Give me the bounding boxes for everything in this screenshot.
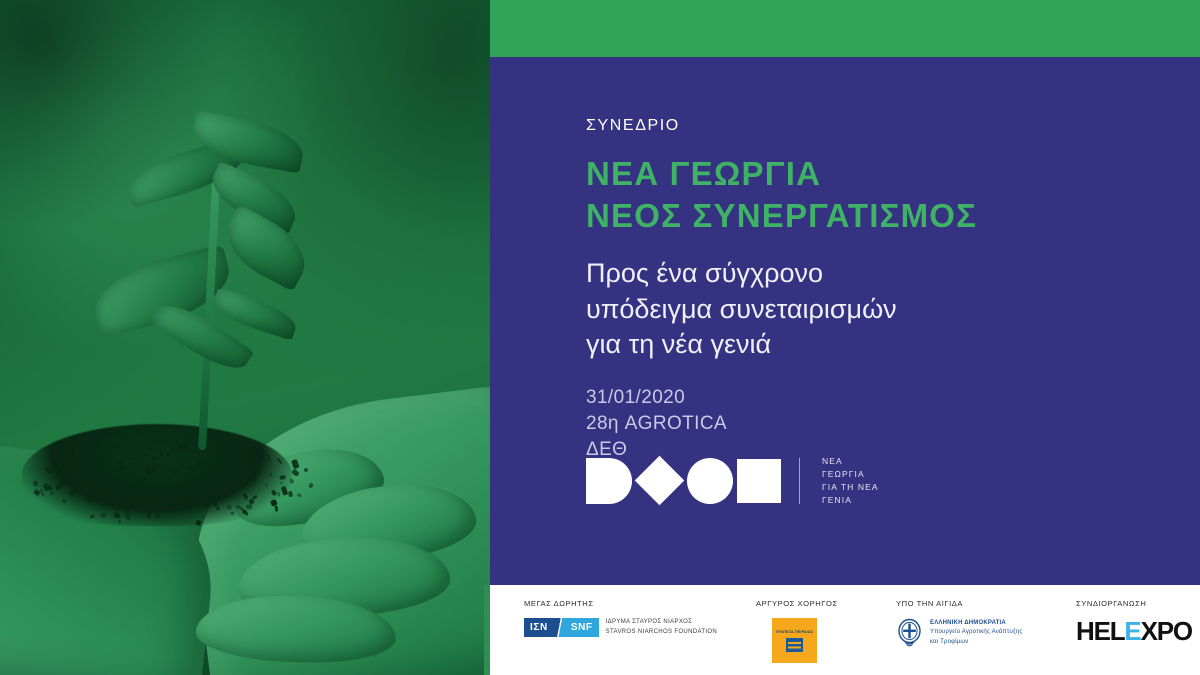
headline-line-2: ΝΕΟΣ ΣΥΝΕΡΓΑΤΙΣΜΟΣ	[586, 195, 1166, 237]
logo-text-line-4: ΓΕΝΙΑ	[822, 494, 879, 507]
brand-logo: ΝΕΑ ΓΕΩΡΓΙΑ ΓΙΑ ΤΗ ΝΕΑ ΓΕΝΙΑ	[586, 455, 879, 507]
piraeus-bank-wordmark: ΤΡΑΠΕΖΑ ΠΕΙΡΑΙΩΣ	[776, 630, 814, 634]
logo-shapes	[586, 457, 781, 505]
sponsor-label-auspices: ΥΠΟ ΤΗΝ ΑΙΓΙΔΑ	[896, 599, 1076, 608]
snf-name-greek: ΙΔΡΥΜΑ ΣΤΑΥΡΟΣ ΝΙΑΡΧΟΣ	[606, 618, 717, 627]
content-block: ΣΥΝΕΔΡΙΟ ΝΕΑ ΓΕΩΡΓΙΑ ΝΕΟΣ ΣΥΝΕΡΓΑΤΙΣΜΟΣ …	[586, 117, 1166, 464]
seedling-photo	[0, 0, 490, 675]
half-round-d-shape-icon	[586, 458, 632, 504]
piraeus-bank-emblem-icon	[786, 638, 803, 652]
sponsor-bar: ΜΕΓΑΣ ΔΩΡΗΤΗΣ ΙΣΝ SNF ΙΔΡΥΜΑ ΣΤΑΥΡΟΣ ΝΙΑ…	[490, 585, 1200, 675]
photo-green-duotone-overlay	[0, 0, 490, 675]
snf-slash-icon	[554, 618, 565, 637]
square-shape-icon	[737, 459, 781, 503]
helexpo-part-2: E	[1124, 616, 1140, 646]
eyebrow-label: ΣΥΝΕΔΡΙΟ	[586, 117, 1166, 135]
helexpo-part-1: HEL	[1076, 616, 1124, 646]
stavros-niarchos-foundation-logo[interactable]: ΙΣΝ SNF ΙΔΡΥΜΑ ΣΤΑΥΡΟΣ ΝΙΑΡΧΟΣ STAVROS N…	[524, 618, 756, 637]
helexpo-logo[interactable]: HELEXPO	[1076, 618, 1200, 644]
helexpo-part-3: XPO	[1141, 616, 1192, 646]
diamond-shape-icon	[635, 456, 684, 505]
sponsor-slot-auspices: ΥΠΟ ΤΗΝ ΑΙΓΙΔΑ ΕΛΛΗΝΙΚΗ ΔΗΜΟΚΡΑΤΙΑ Υπουρ…	[896, 599, 1076, 675]
sponsor-slot-co-organizer: ΣΥΝΔΙΟΡΓΑΝΩΣΗ HELEXPO	[1076, 599, 1200, 675]
sponsor-label-co-organizer: ΣΥΝΔΙΟΡΓΑΝΩΣΗ	[1076, 599, 1200, 608]
snf-mark-right: SNF	[565, 618, 599, 637]
hellenic-republic-emblem-icon	[896, 618, 923, 648]
sponsor-slot-silver-sponsor: ΑΡΓΥΡΟΣ ΧΟΡΗΓΟΣ ΤΡΑΠΕΖΑ ΠΕΙΡΑΙΩΣ	[756, 599, 896, 675]
piraeus-bank-logo[interactable]: ΤΡΑΠΕΖΑ ΠΕΙΡΑΙΩΣ	[772, 618, 817, 663]
sponsor-label-major-donor: ΜΕΓΑΣ ΔΩΡΗΤΗΣ	[524, 599, 756, 608]
sponsor-slot-major-donor: ΜΕΓΑΣ ΔΩΡΗΤΗΣ ΙΣΝ SNF ΙΔΡΥΜΑ ΣΤΑΥΡΟΣ ΝΙΑ…	[524, 599, 756, 675]
event-name: 28η AGROTICA	[586, 411, 1166, 437]
logo-divider	[799, 458, 800, 504]
hellenic-republic-logo[interactable]: ΕΛΛΗΝΙΚΗ ΔΗΜΟΚΡΑΤΙΑ Υπουργείο Αγροτικής …	[896, 618, 1076, 648]
snf-name-text: ΙΔΡΥΜΑ ΣΤΑΥΡΟΣ ΝΙΑΡΧΟΣ STAVROS NIARCHOS …	[606, 618, 717, 637]
subtitle-line-2: υπόδειγμα συνεταιρισμών	[586, 292, 1166, 328]
logo-text-line-2: ΓΕΩΡΓΙΑ	[822, 468, 879, 481]
banner-stage: ΣΥΝΕΔΡΙΟ ΝΕΑ ΓΕΩΡΓΙΑ ΝΕΟΣ ΣΥΝΕΡΓΑΤΙΣΜΟΣ …	[0, 0, 1200, 675]
top-green-bar	[490, 0, 1200, 57]
subtitle-line-3: για τη νέα γενιά	[586, 327, 1166, 363]
navy-content-panel: ΣΥΝΕΔΡΙΟ ΝΕΑ ΓΕΩΡΓΙΑ ΝΕΟΣ ΣΥΝΕΡΓΑΤΙΣΜΟΣ …	[490, 57, 1200, 585]
logo-text-line-3: ΓΙΑ ΤΗ ΝΕΑ	[822, 481, 879, 494]
ministry-name-text: ΕΛΛΗΝΙΚΗ ΔΗΜΟΚΡΑΤΙΑ Υπουργείο Αγροτικής …	[930, 619, 1022, 647]
snf-mark-left: ΙΣΝ	[524, 618, 554, 637]
event-details: 31/01/2020 28η AGROTICA ΔΕΘ	[586, 385, 1166, 464]
circle-shape-icon	[687, 458, 733, 504]
ministry-line-3: και Τροφίμων	[930, 639, 968, 645]
logo-text-line-1: ΝΕΑ	[822, 455, 879, 468]
event-date: 31/01/2020	[586, 385, 1166, 411]
snf-wordmark: ΙΣΝ SNF	[524, 618, 599, 637]
subtitle-line-1: Προς ένα σύγχρονο	[586, 256, 1166, 292]
headline-line-1: ΝΕΑ ΓΕΩΡΓΙΑ	[586, 153, 1166, 195]
snf-name-english: STAVROS NIARCHOS FOUNDATION	[606, 628, 717, 637]
ministry-line-2: Υπουργείο Αγροτικής Ανάπτυξης	[930, 629, 1022, 635]
logo-text-block: ΝΕΑ ΓΕΩΡΓΙΑ ΓΙΑ ΤΗ ΝΕΑ ΓΕΝΙΑ	[822, 455, 879, 507]
sponsor-label-silver-sponsor: ΑΡΓΥΡΟΣ ΧΟΡΗΓΟΣ	[756, 599, 896, 608]
ministry-line-1: ΕΛΛΗΝΙΚΗ ΔΗΜΟΚΡΑΤΙΑ	[930, 620, 1006, 626]
subtitle: Προς ένα σύγχρονο υπόδειγμα συνεταιρισμώ…	[586, 256, 1166, 363]
page-title: ΝΕΑ ΓΕΩΡΓΙΑ ΝΕΟΣ ΣΥΝΕΡΓΑΤΙΣΜΟΣ	[586, 153, 1166, 236]
